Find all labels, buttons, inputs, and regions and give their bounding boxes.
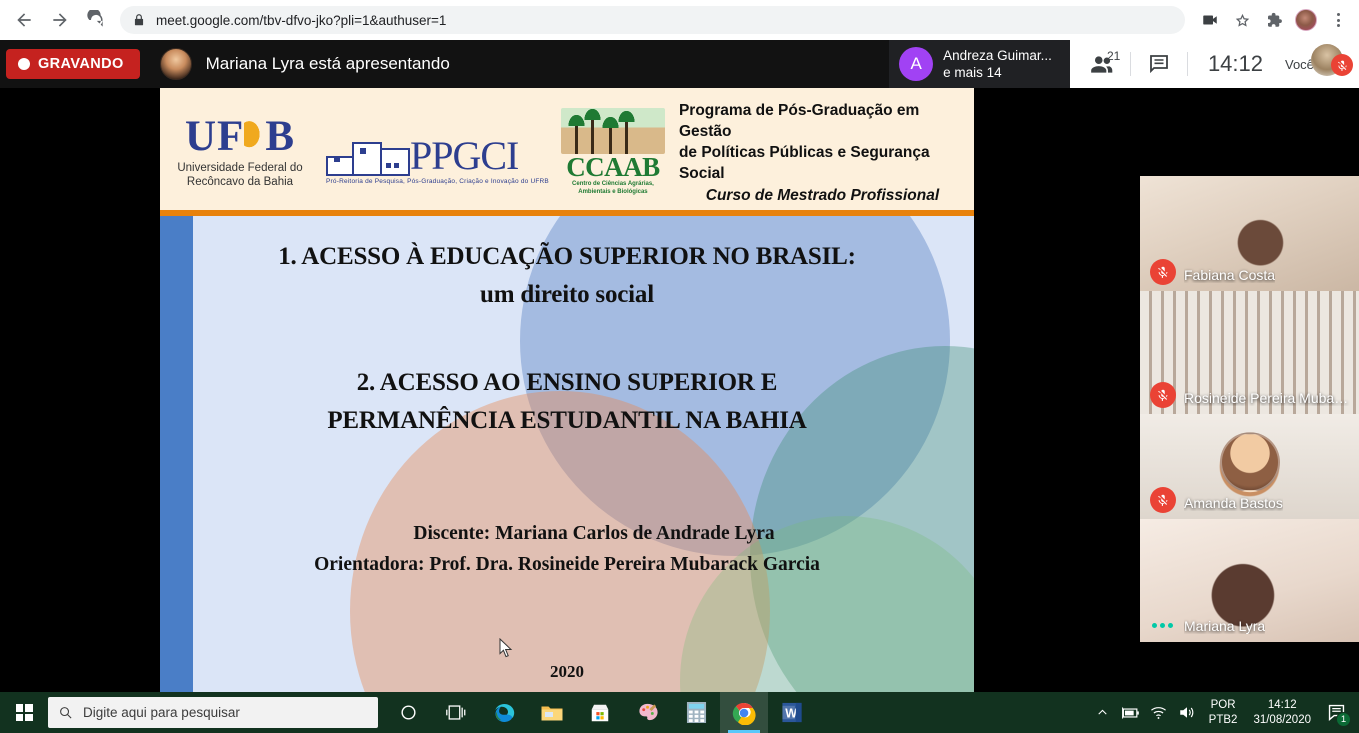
ppgci-caption: Pró-Reitoria de Pesquisa, Pós-Graduação,…: [326, 178, 549, 185]
participant-tile[interactable]: Fabiana Costa: [1140, 176, 1359, 291]
system-tray: POR PTB2 14:12 31/08/2020 1: [1089, 692, 1359, 733]
chrome-icon[interactable]: [720, 692, 768, 733]
mic-off-icon[interactable]: [1150, 487, 1176, 513]
back-icon[interactable]: [6, 2, 42, 38]
language-line-1: POR: [1209, 698, 1238, 713]
presenting-status: Mariana Lyra está apresentando: [206, 54, 450, 74]
slide-title-2-line-2: PERMANÊNCIA ESTUDANTIL NA BAHIA: [160, 402, 974, 440]
video-camera-icon[interactable]: [1195, 5, 1225, 35]
start-button[interactable]: [0, 692, 48, 733]
slide-title-1-line-1: 1. ACESSO À EDUCAÇÃO SUPERIOR NO BRASIL:: [160, 238, 974, 276]
wifi-icon[interactable]: [1145, 692, 1173, 733]
language-indicator[interactable]: POR PTB2: [1201, 698, 1246, 728]
slide-credit-student: Discente: Mariana Carlos de Andrade Lyra: [160, 518, 974, 549]
ppgci-logo: PPGCI Pró-Reitoria de Pesquisa, Pós-Grad…: [326, 120, 549, 185]
file-explorer-icon[interactable]: [528, 692, 576, 733]
windows-taskbar: Digite aqui para pesquisar: [0, 692, 1359, 733]
calculator-icon[interactable]: [672, 692, 720, 733]
record-dot-icon: [18, 58, 30, 70]
program-line-3: Curso de Mestrado Profissional: [679, 187, 966, 205]
ufrb-logo: UFB Universidade Federal do Recôncavo da…: [170, 115, 310, 189]
address-bar-text: meet.google.com/tbv-dfvo-jko?pli=1&authu…: [156, 13, 446, 28]
meet-top-bar-right: A Andreza Guimar... e mais 14 21 14:12: [889, 40, 1359, 88]
program-line-2: de Políticas Públicas e Segurança Social: [679, 142, 966, 184]
ufrb-sub-line1: Universidade Federal do: [170, 161, 310, 175]
participant-rail: Fabiana Costa Rosineide Pereira Mubara..…: [1140, 176, 1359, 733]
participant-name: Rosineide Pereira Mubara...: [1184, 390, 1352, 406]
word-icon[interactable]: W: [768, 692, 816, 733]
recording-label: GRAVANDO: [38, 56, 124, 72]
lock-icon: [132, 13, 146, 27]
ppgci-wordmark: PPGCI: [410, 136, 518, 176]
ccaab-art-icon: [561, 108, 665, 154]
participants-chip[interactable]: A Andreza Guimar... e mais 14: [889, 40, 1070, 88]
browser-toolbar: meet.google.com/tbv-dfvo-jko?pli=1&authu…: [0, 0, 1359, 40]
star-icon[interactable]: [1227, 5, 1257, 35]
edge-icon[interactable]: [480, 692, 528, 733]
people-icon[interactable]: 21: [1074, 40, 1130, 88]
search-icon: [58, 705, 73, 720]
taskbar-search-box[interactable]: Digite aqui para pesquisar: [48, 697, 378, 728]
ufrb-face-icon: [244, 118, 265, 154]
meeting-time: 14:12: [1188, 51, 1283, 77]
mouse-cursor: [499, 638, 513, 663]
participant-name: Mariana Lyra: [1184, 618, 1265, 634]
slide-body: 1. ACESSO À EDUCAÇÃO SUPERIOR NO BRASIL:…: [160, 216, 974, 692]
clock[interactable]: 14:12 31/08/2020: [1245, 698, 1319, 728]
battery-icon[interactable]: [1117, 692, 1145, 733]
self-view-chip[interactable]: Você: [1283, 40, 1355, 88]
taskbar-search-placeholder: Digite aqui para pesquisar: [83, 705, 240, 720]
ufrb-sub-line2: Recôncavo da Bahia: [170, 175, 310, 189]
taskbar-apps: W: [384, 692, 816, 733]
notifications-icon[interactable]: 1: [1319, 692, 1353, 733]
participant-tile[interactable]: Amanda Bastos: [1140, 414, 1359, 519]
windows-logo-icon: [16, 704, 33, 721]
task-view-icon[interactable]: [432, 692, 480, 733]
profile-avatar[interactable]: [1291, 5, 1321, 35]
people-count: 21: [1107, 49, 1120, 63]
ccaab-sub2: Ambientais e Biológicas: [561, 188, 665, 196]
slide-text-content: 1. ACESSO À EDUCAÇÃO SUPERIOR NO BRASIL:…: [160, 216, 974, 682]
chip-more: e mais 14: [943, 64, 1052, 81]
show-hidden-icons-chevron-up-icon[interactable]: [1089, 692, 1117, 733]
reload-icon[interactable]: [78, 2, 114, 38]
more-menu-icon[interactable]: [1323, 5, 1353, 35]
slide-header: UFB Universidade Federal do Recôncavo da…: [160, 88, 974, 216]
ccaab-wordmark: CCAAB: [561, 154, 665, 180]
extensions-icon[interactable]: [1259, 5, 1289, 35]
slide-title-2-line-1: 2. ACESSO AO ENSINO SUPERIOR E: [160, 364, 974, 402]
chip-name: Andreza Guimar...: [943, 47, 1052, 64]
avatar: [1220, 432, 1280, 492]
participant-name: Amanda Bastos: [1184, 495, 1283, 511]
cortana-icon[interactable]: [384, 692, 432, 733]
microsoft-store-icon[interactable]: [576, 692, 624, 733]
program-line-1: Programa de Pós-Graduação em Gestão: [679, 100, 966, 142]
meet-top-bar: GRAVANDO Mariana Lyra está apresentando …: [0, 40, 1359, 88]
paint-3d-icon[interactable]: [624, 692, 672, 733]
screen-root: meet.google.com/tbv-dfvo-jko?pli=1&authu…: [0, 0, 1359, 733]
you-label: Você: [1285, 57, 1314, 72]
participant-tile[interactable]: Mariana Lyra: [1140, 519, 1359, 642]
slide-title-1-line-2: um direito social: [160, 276, 974, 314]
ufrb-mark-start: UF: [185, 113, 244, 160]
ufrb-mark-end: B: [265, 113, 295, 160]
mic-off-icon[interactable]: [1150, 259, 1176, 285]
slide-credit-advisor: Orientadora: Prof. Dra. Rosineide Pereir…: [160, 549, 974, 580]
clock-date: 31/08/2020: [1253, 713, 1311, 728]
participant-name: Fabiana Costa: [1184, 267, 1275, 283]
volume-icon[interactable]: [1173, 692, 1201, 733]
ppgci-house-icon: [326, 120, 410, 176]
shared-presentation-slide[interactable]: UFB Universidade Federal do Recôncavo da…: [160, 88, 974, 692]
ccaab-logo: CCAAB Centro de Ciências Agrárias, Ambie…: [561, 108, 665, 196]
program-title-block: Programa de Pós-Graduação em Gestão de P…: [679, 100, 974, 205]
recording-badge: GRAVANDO: [6, 49, 140, 79]
presenter-avatar: [160, 48, 192, 80]
ccaab-sub1: Centro de Ciências Agrárias,: [561, 180, 665, 188]
chip-avatar: A: [899, 47, 933, 81]
address-bar[interactable]: meet.google.com/tbv-dfvo-jko?pli=1&authu…: [120, 6, 1185, 34]
browser-action-icons: [1195, 5, 1359, 35]
mic-off-icon[interactable]: [1150, 382, 1176, 408]
language-line-2: PTB2: [1209, 713, 1238, 728]
participant-tile[interactable]: Rosineide Pereira Mubara...: [1140, 291, 1359, 414]
notification-count-badge: 1: [1336, 712, 1351, 727]
clock-time: 14:12: [1253, 698, 1311, 713]
forward-icon[interactable]: [42, 2, 78, 38]
speaking-indicator-icon: [1152, 623, 1173, 628]
chat-icon[interactable]: [1131, 40, 1187, 88]
svg-text:W: W: [785, 706, 797, 720]
slide-year: 2020: [160, 662, 974, 682]
meet-stage: UFB Universidade Federal do Recôncavo da…: [0, 88, 1359, 692]
meet-controls: 21 14:12 Você: [1070, 40, 1359, 88]
mic-off-icon[interactable]: [1331, 54, 1353, 76]
